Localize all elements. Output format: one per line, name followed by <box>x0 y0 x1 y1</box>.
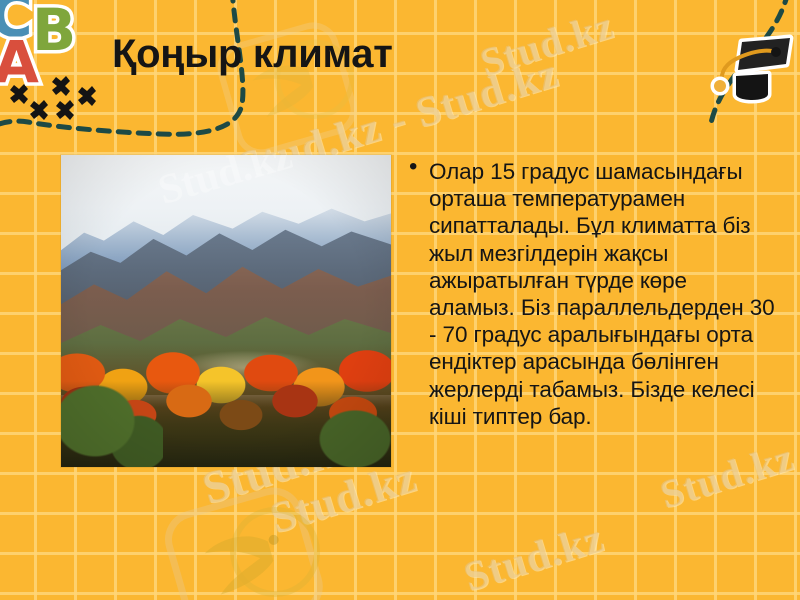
bullet-point-icon: • <box>409 158 429 167</box>
watermark-text: Stud.kz <box>458 514 609 600</box>
autumn-mountain-photo: Stud.kz <box>61 155 391 467</box>
page-title: Қоңыр климат <box>112 33 732 76</box>
dashed-curve-left-icon <box>0 0 280 160</box>
photo-vignette <box>61 155 391 467</box>
letter-b: B <box>32 0 76 64</box>
body-paragraph: Олар 15 градус шамасындағы орташа темпер… <box>429 158 777 430</box>
bullet-list-item: • Олар 15 градус шамасындағы орташа темп… <box>409 158 777 430</box>
letter-a: A <box>0 28 39 96</box>
watermark-text: Stud.kz <box>654 433 799 518</box>
body-content: • Олар 15 градус шамасындағы орташа темп… <box>409 158 777 430</box>
hummingbird-logo-watermark-icon <box>206 4 389 179</box>
star-marks-icon <box>4 68 124 138</box>
alphabet-letters-decoration: C B A <box>0 0 96 101</box>
content-image: Stud.kz <box>61 155 391 467</box>
letter-c: C <box>0 0 33 50</box>
slide-canvas: Stud.kz - Stud.kz Stud.kz Stud.kz Stud.k… <box>0 0 800 600</box>
hummingbird-logo-watermark-icon <box>152 468 358 600</box>
